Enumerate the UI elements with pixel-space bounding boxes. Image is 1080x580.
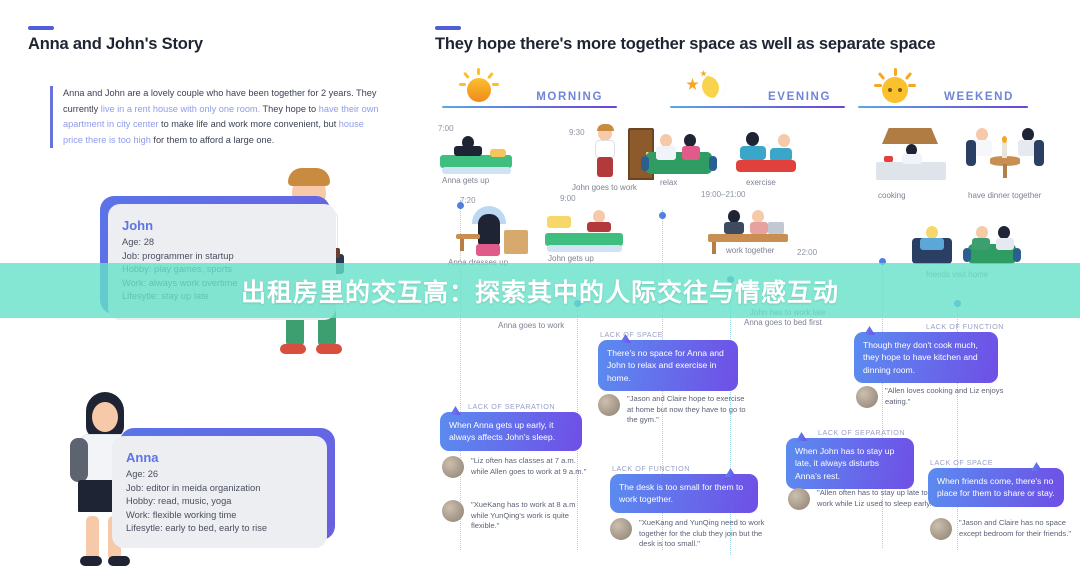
story-highlight-1: live in a rent house with only one room. <box>101 104 260 114</box>
avatar <box>856 386 878 408</box>
quote-item: "XueKang has to work at 8 a.m while YunQ… <box>442 500 592 532</box>
callout-bubble: The desk is too small for them to work t… <box>610 474 758 513</box>
card-text: Anna Age: 26 Job: editor in meida organi… <box>126 450 267 536</box>
scene-caption: Anna goes to bed first <box>744 318 822 327</box>
callout-kicker: LACK OF SEPARATION <box>468 402 555 411</box>
infographic-page: Anna and John's Story Anna and John are … <box>0 0 1080 580</box>
callout-bubble: There's no space for Anna and John to re… <box>598 340 738 391</box>
column-header-morning: MORNING <box>442 72 617 108</box>
scene-caption: work together <box>726 246 774 255</box>
time-label: 7:20 <box>460 196 476 205</box>
avatar <box>610 518 632 540</box>
story-line-2b: They hope to <box>260 104 319 114</box>
scene-caption: have dinner together <box>968 191 1041 200</box>
scene-anna-gets-up <box>440 134 512 174</box>
quote-text: "XueKang and YunQing need to work togeth… <box>639 518 778 550</box>
scene-relax <box>642 130 718 178</box>
section-accent-rule <box>435 26 461 30</box>
scene-caption: John gets up <box>548 254 594 263</box>
overlay-banner: 出租房里的交互高：探索其中的人际交往与情感互动 <box>0 263 1080 318</box>
column-underline <box>670 106 845 109</box>
callout-kicker: LACK OF SEPARATION <box>818 428 905 437</box>
avatar <box>442 500 464 522</box>
moon-star-icon <box>686 68 728 106</box>
persona-age: Age: 26 <box>126 468 267 482</box>
scene-caption: Anna goes to work <box>498 321 564 330</box>
banner-title: 出租房里的交互高：探索其中的人际交往与情感互动 <box>241 273 839 309</box>
avatar <box>788 488 810 510</box>
column-header-evening: EVENING <box>670 72 845 108</box>
callout-bubble: When Anna gets up early, it always affec… <box>440 412 582 451</box>
quote-item: "Allen often has to stay up late to work… <box>788 488 942 510</box>
page-title: Anna and John's Story <box>28 35 203 54</box>
persona-work: Work: flexible working time <box>126 509 267 523</box>
column-header-weekend: WEEKEND <box>858 72 1028 108</box>
scene-caption: Anna gets up <box>442 176 489 185</box>
scene-caption: John goes to work <box>572 183 637 192</box>
callout-kicker: LACK OF FUNCTION <box>612 464 690 473</box>
quote-item: "Jason and Claire has no space except be… <box>930 518 1080 540</box>
story-line-4b: for them to afford a large one. <box>151 135 274 145</box>
quote-text: "Jason and Claire hope to exercise at ho… <box>627 394 748 426</box>
persona-name: Anna <box>126 450 267 465</box>
persona-job: Job: editor in meida organization <box>126 482 267 496</box>
column-underline <box>442 106 617 109</box>
callout-kicker: LACK OF FUNCTION <box>926 322 1004 331</box>
quote-text: "Jason and Claire has no space except be… <box>959 518 1080 540</box>
scene-john-gets-up <box>545 206 623 254</box>
quote-item: "XueKang and YunQing need to work togeth… <box>610 518 778 550</box>
story-line-1: Anna and John are a lovely couple who ha… <box>63 88 354 98</box>
time-label: 19:00–21:00 <box>701 190 746 199</box>
column-label: MORNING <box>536 91 603 103</box>
time-label: 9:00 <box>560 194 576 203</box>
callout-bubble: When friends come, there's no place for … <box>928 468 1064 507</box>
scene-cooking <box>872 128 948 178</box>
scene-friends-visit-home <box>912 222 1020 268</box>
time-label: 7:00 <box>438 124 454 133</box>
scene-have-dinner-together <box>960 126 1048 180</box>
story-line-3b: to make life and work more convenient, <box>159 119 321 129</box>
callout-bubble: Though they don't cook much, they hope t… <box>854 332 998 383</box>
persona-name: John <box>122 218 238 233</box>
timeline-dot <box>659 212 666 219</box>
sun-icon <box>458 68 500 106</box>
persona-lifestyle: Lifesytle: early to bed, early to rise <box>126 522 267 536</box>
scene-anna-dresses-up <box>456 206 534 258</box>
column-label: EVENING <box>768 91 831 103</box>
quote-text: "XueKang has to work at 8 a.m while YunQ… <box>471 500 592 532</box>
quote-text: "Allen often has to stay up late to work… <box>817 488 942 510</box>
persona-job: Job: programmer in startup <box>122 250 238 264</box>
callout-kicker: LACK OF SPACE <box>600 330 663 339</box>
column-underline <box>858 106 1028 109</box>
section-title: They hope there's more together space as… <box>435 35 935 54</box>
column-label: WEEKEND <box>944 91 1014 103</box>
avatar <box>442 456 464 478</box>
story-line-4a: but <box>323 119 338 129</box>
quote-text: "Allen loves cooking and Liz enjoys eati… <box>885 386 1016 408</box>
story-paragraph: Anna and John are a lovely couple who ha… <box>50 86 380 148</box>
quote-item: "Jason and Claire hope to exercise at ho… <box>598 394 748 426</box>
callout-bubble: When John has to stay up late, it always… <box>786 438 914 489</box>
quote-item: "Liz often has classes at 7 a.m. while A… <box>442 456 592 478</box>
avatar <box>930 518 952 540</box>
scene-caption: cooking <box>878 191 906 200</box>
time-label: 9:30 <box>569 128 585 137</box>
time-label: 22:00 <box>797 248 817 257</box>
persona-age: Age: 28 <box>122 236 238 250</box>
title-accent-rule <box>28 26 54 30</box>
persona-card-anna: Anna Age: 26 Job: editor in meida organi… <box>120 428 335 540</box>
callout-kicker: LACK OF SPACE <box>930 458 993 467</box>
quote-text: "Liz often has classes at 7 a.m. while A… <box>471 456 592 478</box>
quote-item: "Allen loves cooking and Liz enjoys eati… <box>856 386 1016 408</box>
scene-caption: relax <box>660 178 677 187</box>
scene-caption: exercise <box>746 178 776 187</box>
scene-exercise <box>730 128 802 178</box>
avatar <box>598 394 620 416</box>
persona-hobby: Hobby: read, music, yoga <box>126 495 267 509</box>
weekend-sun-icon <box>874 68 916 106</box>
